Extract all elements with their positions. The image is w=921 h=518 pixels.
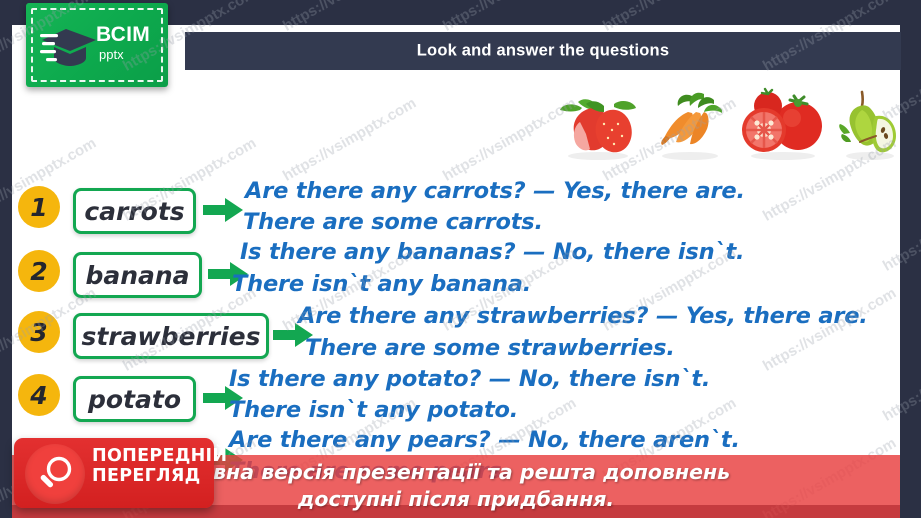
answer-line: There are some strawberries. — [305, 335, 675, 361]
row-number: 2 — [18, 250, 60, 292]
logo-brand: ВСІМ — [96, 24, 164, 45]
answer-line: Are there any pears? — No, there aren`t. — [229, 427, 740, 453]
badge-line-2: ПЕРЕГЛЯД — [92, 467, 210, 487]
magnifier-icon — [36, 455, 74, 493]
preview-badge[interactable]: ПОПЕРЕДНІЙ ПЕРЕГЛЯД — [14, 438, 214, 508]
word-label: strawberries — [81, 322, 260, 351]
answer-line: There are some carrots. — [243, 209, 543, 235]
pear-photo — [836, 86, 904, 162]
page-title: Look and answer the questions — [185, 42, 901, 61]
answer-line: Are there any carrots? — Yes, there are. — [245, 178, 745, 204]
row-number: 3 — [18, 311, 60, 353]
word-box-strawberries[interactable]: strawberries — [73, 313, 269, 359]
answer-line: Is there any potato? — No, there isn`t. — [229, 366, 710, 392]
slide-canvas: Look and answer the questions ВСІМ pptx — [0, 0, 921, 518]
logo[interactable]: ВСІМ pptx — [26, 3, 168, 87]
word-box-potato[interactable]: potato — [73, 376, 196, 422]
tomatoes-photo — [738, 86, 828, 162]
answer-line: There isn`t any banana. — [232, 271, 531, 297]
strawberries-photo — [552, 86, 644, 162]
logo-sub: pptx — [99, 48, 124, 61]
answer-line: There isn`t any potato. — [229, 397, 518, 423]
arrow-right-icon — [203, 198, 243, 222]
word-label: banana — [85, 261, 189, 290]
carrots-photo — [648, 86, 732, 162]
graduation-cap-icon — [40, 25, 98, 69]
badge-circle — [25, 444, 85, 504]
word-box-carrots[interactable]: carrots — [73, 188, 196, 234]
badge-line-1: ПОПЕРЕДНІЙ — [92, 447, 210, 467]
row-number: 4 — [18, 374, 60, 416]
word-label: potato — [88, 385, 181, 414]
answer-line: Are there any strawberries? — Yes, there… — [298, 303, 868, 329]
row-number: 1 — [18, 186, 60, 228]
header-bar: Look and answer the questions — [185, 32, 901, 70]
word-label: carrots — [84, 197, 184, 226]
answer-line: Is there any bananas? — No, there isn`t. — [240, 239, 744, 265]
word-box-banana[interactable]: banana — [73, 252, 202, 298]
badge-text: ПОПЕРЕДНІЙ ПЕРЕГЛЯД — [92, 447, 210, 487]
